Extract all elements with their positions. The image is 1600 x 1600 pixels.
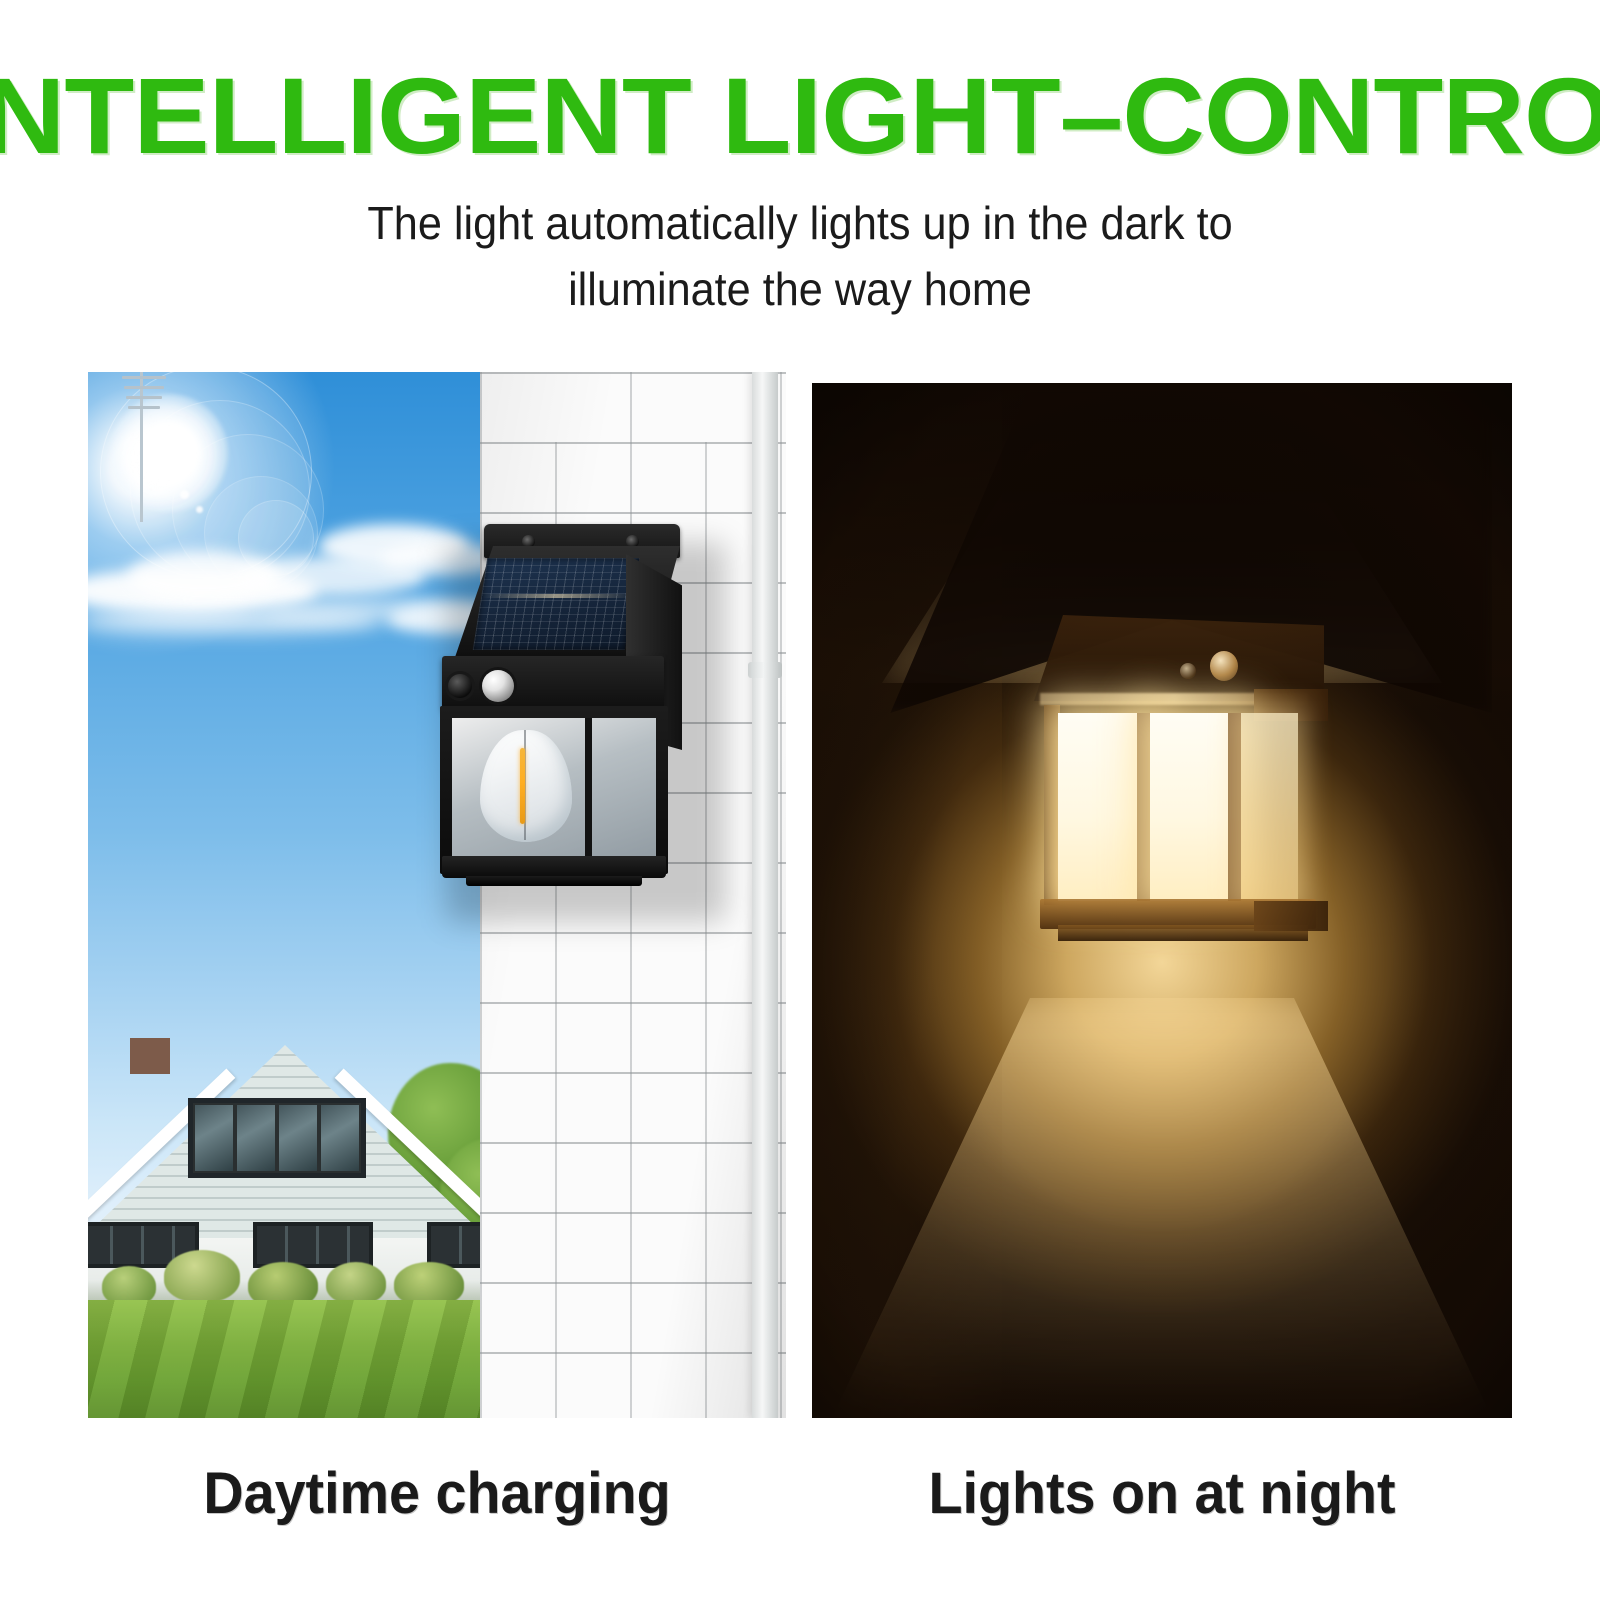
page-subtitle: The light automatically lights up in the… — [236, 190, 1364, 322]
subtitle-line-1: The light automatically lights up in the… — [236, 190, 1364, 256]
tv-antenna-element — [126, 396, 162, 399]
daytime-scene — [88, 372, 786, 1418]
shrub — [326, 1262, 386, 1304]
window-pane — [237, 1105, 275, 1171]
shrub — [164, 1250, 240, 1302]
tv-antenna-element — [124, 386, 164, 389]
night-scene — [812, 383, 1512, 1418]
caption-lights-on-at-night: Lights on at night — [826, 1462, 1498, 1526]
tv-antenna-element — [128, 406, 160, 409]
sensor-bar — [442, 656, 664, 710]
drain-pipe — [752, 372, 778, 1418]
solar-wall-lamp — [418, 524, 702, 914]
daytime-photo — [88, 372, 786, 1418]
tv-antenna-element — [122, 376, 166, 379]
window-pane — [321, 1105, 359, 1171]
lawn — [88, 1300, 480, 1418]
lens-flare-dot — [196, 506, 203, 513]
glass-pane — [592, 718, 656, 856]
motion-sensor-icon — [482, 670, 514, 702]
tv-antenna-mast — [140, 372, 143, 522]
subtitle-line-2: illuminate the way home — [236, 256, 1364, 322]
lantern-housing — [440, 706, 668, 874]
window — [427, 1222, 480, 1268]
vignette — [812, 383, 1512, 1418]
night-photo — [812, 383, 1512, 1418]
window-pane — [195, 1105, 233, 1171]
power-button[interactable] — [448, 674, 472, 698]
solar-panel — [473, 558, 640, 650]
attic-window — [188, 1098, 366, 1178]
page-title: INTELLIGENT LIGHT–CONTROL — [0, 62, 1600, 170]
solar-panel-glint — [482, 594, 633, 598]
caption-daytime-charging: Daytime charging — [102, 1462, 772, 1526]
glass-pane — [452, 718, 592, 856]
lens-flare-dot — [180, 490, 189, 499]
led-filament — [520, 748, 525, 824]
lantern-glass — [452, 718, 656, 856]
house — [88, 950, 480, 1250]
edison-bulb — [480, 730, 572, 842]
lantern-base — [442, 856, 666, 878]
window-pane — [279, 1105, 317, 1171]
